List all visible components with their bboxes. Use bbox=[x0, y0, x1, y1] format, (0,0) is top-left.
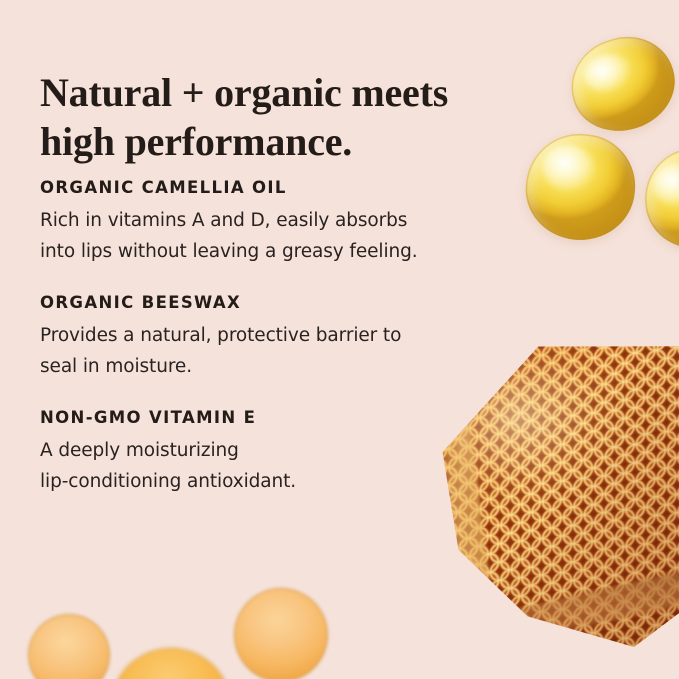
product-ingredients-graphic: Natural + organic meets high performance… bbox=[0, 0, 679, 679]
ingredient-item-vitamin-e: NON-GMO VITAMIN E A deeply moisturizing … bbox=[40, 408, 516, 497]
ingredient-title: NON-GMO VITAMIN E bbox=[40, 408, 516, 427]
ingredient-list: ORGANIC CAMELLIA OIL Rich in vitamins A … bbox=[40, 178, 516, 497]
ingredient-description: Rich in vitamins A and D, easily absorbs… bbox=[40, 206, 516, 267]
ingredient-item-camellia-oil: ORGANIC CAMELLIA OIL Rich in vitamins A … bbox=[40, 178, 516, 267]
ingredient-title: ORGANIC BEESWAX bbox=[40, 293, 516, 312]
ingredient-title: ORGANIC CAMELLIA OIL bbox=[40, 178, 516, 197]
ingredient-description: A deeply moisturizing lip-conditioning a… bbox=[40, 436, 516, 497]
content-layer: Natural + organic meets high performance… bbox=[0, 0, 679, 679]
ingredient-item-beeswax: ORGANIC BEESWAX Provides a natural, prot… bbox=[40, 293, 516, 382]
ingredient-description: Provides a natural, protective barrier t… bbox=[40, 321, 516, 382]
page-title: Natural + organic meets high performance… bbox=[40, 69, 510, 167]
